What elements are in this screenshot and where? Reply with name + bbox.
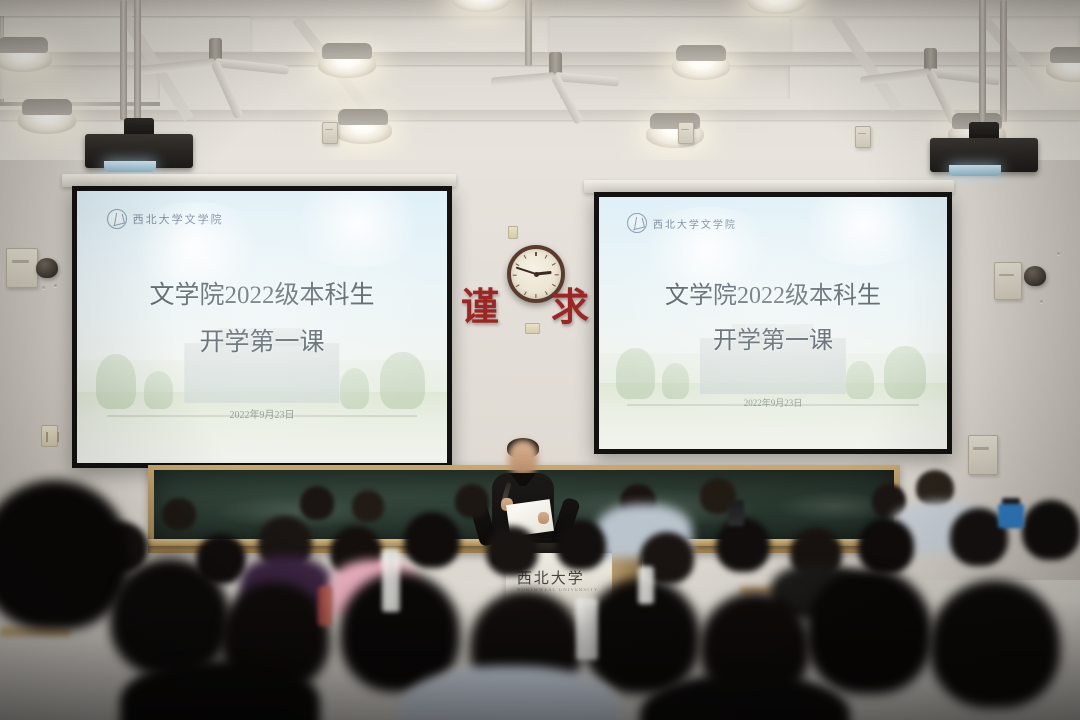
audience-head: [352, 490, 384, 522]
slide-date: 2022年9月23日: [599, 396, 947, 409]
audience-head: [1022, 500, 1080, 560]
audience-head: [716, 518, 770, 572]
ceiling-fan: [140, 38, 290, 84]
audience-head: [300, 486, 334, 520]
audience-head: [858, 518, 914, 574]
slide-logo-left: 西北大学文学院: [107, 209, 224, 229]
ceiling-projector-right: [930, 116, 1038, 176]
wall-plaque: [508, 226, 518, 239]
ceiling-pipe: [1000, 0, 1007, 122]
water-bottle: [382, 548, 400, 612]
power-outlet-left[interactable]: [41, 425, 58, 447]
seated-students: [0, 460, 1080, 720]
ceiling-light: [334, 118, 392, 144]
slide-title-line2: 开学第一课: [77, 322, 447, 358]
ceiling-fan: [490, 52, 620, 94]
slide-title-line2: 开学第一课: [599, 320, 947, 355]
water-bottle: [576, 598, 598, 660]
ceiling-light: [18, 108, 76, 134]
lecture-hall-photo: 西北大学文学院 文学院2022级本科生 开学第一课 2022年9月23日 西北大…: [0, 0, 1080, 720]
phone-case: [998, 504, 1024, 528]
ceiling-light: [646, 122, 704, 148]
audience-head: [556, 520, 606, 570]
ceiling-speaker-right: [1024, 266, 1046, 286]
slide-title-line1: 文学院2022级本科生: [77, 275, 447, 311]
wall-switch-left[interactable]: [322, 122, 338, 144]
right-projection-screen: 西北大学文学院 文学院2022级本科生 开学第一课 2022年9月23日: [594, 192, 952, 454]
slide-logo-right: 西北大学文学院: [627, 213, 737, 233]
left-projection-screen: 西北大学文学院 文学院2022级本科生 开学第一课 2022年9月23日: [72, 186, 452, 468]
slide-left: 西北大学文学院 文学院2022级本科生 开学第一课 2022年9月23日: [77, 191, 447, 463]
electrical-box-left: [6, 248, 38, 288]
ceiling-light: [1046, 56, 1080, 82]
ceiling-projector-left: [85, 112, 193, 172]
slide-date: 2022年9月23日: [77, 406, 447, 421]
university-crest-icon: [627, 213, 647, 233]
slide-logo-wordmark: 西北大学文学院: [653, 216, 737, 231]
smartphone: [728, 500, 744, 526]
ceiling-light: [318, 52, 376, 78]
slide-right: 西北大学文学院 文学院2022级本科生 开学第一课 2022年9月23日: [599, 197, 947, 449]
wall-switch-right[interactable]: [678, 122, 694, 144]
water-bottle: [638, 566, 654, 604]
ceiling-pipe: [120, 0, 127, 120]
wall-motto-char-left: 谨: [461, 276, 499, 331]
wall-motto-char-right: 求: [551, 276, 589, 331]
audience-head: [486, 526, 538, 576]
audience-head: [162, 498, 196, 530]
drink-cup: [318, 586, 332, 626]
audience-head: [110, 558, 230, 676]
electrical-box-right: [994, 262, 1022, 300]
audience-head: [806, 568, 932, 694]
audience-head: [916, 470, 954, 506]
ceiling-beam: [0, 0, 1080, 16]
ceiling-speaker-left: [36, 258, 58, 278]
audience-head: [455, 484, 489, 518]
audience-head: [404, 512, 460, 568]
ceiling-light: [672, 54, 730, 80]
wall-plaque: [525, 323, 540, 334]
audience-head: [930, 580, 1060, 708]
university-crest-icon: [107, 209, 127, 229]
slide-title-line1: 文学院2022级本科生: [599, 275, 947, 310]
wall-switch-center[interactable]: [855, 126, 871, 148]
ceiling-light: [0, 46, 52, 72]
slide-logo-wordmark: 西北大学文学院: [133, 211, 224, 227]
